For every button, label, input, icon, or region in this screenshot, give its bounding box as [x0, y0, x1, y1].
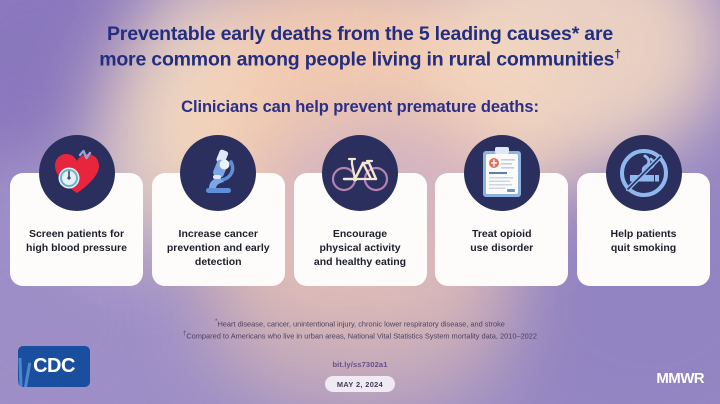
card-screen-blood-pressure[interactable]: Screen patients for high blood pressure: [10, 173, 143, 286]
footnote-1-text: Heart disease, cancer, unintentional inj…: [217, 319, 504, 328]
headline-line-1: Preventable early deaths from the 5 lead…: [107, 23, 613, 45]
headline-line-2: more common among people living in rural…: [99, 48, 614, 70]
mmwr-logo: MMWR: [656, 370, 704, 387]
card-opioid-treatment[interactable]: Treat opioid use disorder: [435, 173, 568, 286]
bicycle-icon: [322, 135, 398, 211]
card-label: Treat opioid use disorder: [464, 227, 539, 255]
card-physical-activity[interactable]: Encourage physical activity and healthy …: [294, 173, 427, 286]
footnote-2: †Compared to Americans who live in urban…: [0, 330, 720, 342]
card-quit-smoking[interactable]: Help patients quit smoking: [577, 173, 710, 286]
card-label: Screen patients for high blood pressure: [20, 227, 133, 255]
publication-date-badge: MAY 2, 2024: [325, 376, 395, 392]
subtitle: Clinicians can help prevent premature de…: [0, 98, 720, 117]
footnotes: *Heart disease, cancer, unintentional in…: [0, 318, 720, 343]
no-smoking-icon: [606, 135, 682, 211]
recommendation-card-list: Screen patients for high blood pressure …: [10, 173, 710, 286]
microscope-icon: [180, 135, 256, 211]
footnote-2-text: Compared to Americans who live in urban …: [186, 332, 537, 341]
footer-center: bit.ly/ss7302a1 MAY 2, 2024: [0, 360, 720, 393]
headline-dagger: †: [614, 47, 620, 61]
page-title: Preventable early deaths from the 5 lead…: [0, 22, 720, 72]
infographic-root: Preventable early deaths from the 5 lead…: [0, 0, 720, 404]
card-label: Help patients quit smoking: [605, 227, 683, 255]
footnote-1: *Heart disease, cancer, unintentional in…: [0, 318, 720, 330]
card-label: Encourage physical activity and healthy …: [308, 227, 412, 269]
card-cancer-prevention[interactable]: Increase cancer prevention and early det…: [152, 173, 285, 286]
card-label: Increase cancer prevention and early det…: [161, 227, 276, 269]
prescription-clipboard-icon: [464, 135, 540, 211]
bitly-link[interactable]: bit.ly/ss7302a1: [0, 360, 720, 369]
heart-blood-pressure-icon: [39, 135, 115, 211]
